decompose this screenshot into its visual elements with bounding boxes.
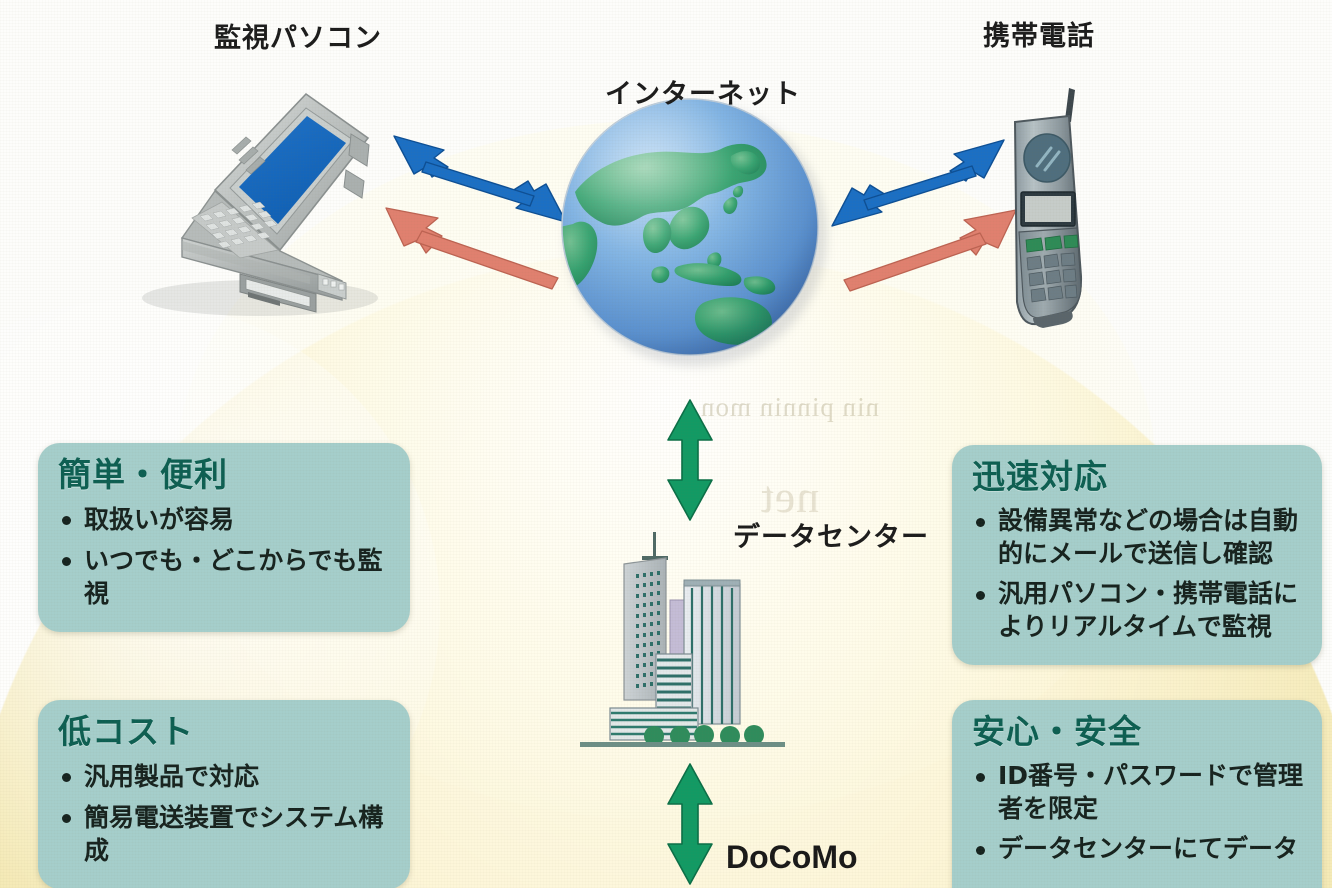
- list-item: 簡易電送装置でシステム構成: [58, 801, 392, 867]
- double-arrow-green-icon-bottom: [662, 762, 718, 886]
- list-item: データセンターにてデータ: [972, 833, 1304, 866]
- data-center-building-icon: [580, 528, 795, 758]
- feature-title: 低コスト: [58, 714, 392, 750]
- diagram-canvas: nin pinnin mon net: [0, 0, 1332, 888]
- double-arrow-green-icon-top: [662, 398, 718, 522]
- feature-title: 安心・安全: [972, 714, 1304, 750]
- label-monitoring-pc: 監視パソコン: [214, 16, 382, 55]
- feature-title: 迅速対応: [972, 459, 1304, 495]
- list-item: 取扱いが容易: [58, 503, 392, 536]
- list-item: いつでも・どこからでも監視: [58, 544, 392, 610]
- feature-list: 汎用製品で対応 簡易電送装置でシステム構成: [58, 760, 392, 867]
- list-item: 汎用製品で対応: [58, 760, 392, 793]
- label-docomo: DoCoMo: [726, 839, 858, 876]
- feature-list: 設備異常などの場合は自動的にメールで送信し確認 汎用パソコン・携帯電話によりリア…: [972, 505, 1304, 643]
- laptop-icon: [120, 78, 390, 338]
- feature-list: 取扱いが容易 いつでも・どこからでも監視: [58, 503, 392, 610]
- list-item: ID番号・パスワードで管理者を限定: [972, 760, 1304, 825]
- feature-box-low-cost: 低コスト 汎用製品で対応 簡易電送装置でシステム構成: [38, 700, 410, 888]
- globe-icon: [559, 96, 821, 358]
- list-item: 汎用パソコン・携帯電話によりリアルタイムで監視: [972, 578, 1304, 643]
- label-internet: インターネット: [605, 72, 801, 111]
- feature-box-easy: 簡単・便利 取扱いが容易 いつでも・どこからでも監視: [38, 443, 410, 632]
- feature-box-security: 安心・安全 ID番号・パスワードで管理者を限定 データセンターにてデータ: [952, 700, 1322, 888]
- arrow-red-icon: [382, 196, 562, 291]
- label-mobile-phone: 携帯電話: [983, 14, 1095, 53]
- feature-list: ID番号・パスワードで管理者を限定 データセンターにてデータ: [972, 760, 1304, 866]
- list-item: 設備異常などの場合は自動的にメールで送信し確認: [972, 505, 1304, 570]
- mobile-phone-icon: [985, 80, 1105, 350]
- feature-title: 簡単・便利: [58, 457, 392, 493]
- feature-box-fast-response: 迅速対応 設備異常などの場合は自動的にメールで送信し確認 汎用パソコン・携帯電話…: [952, 445, 1322, 665]
- label-data-center: データセンター: [733, 515, 929, 554]
